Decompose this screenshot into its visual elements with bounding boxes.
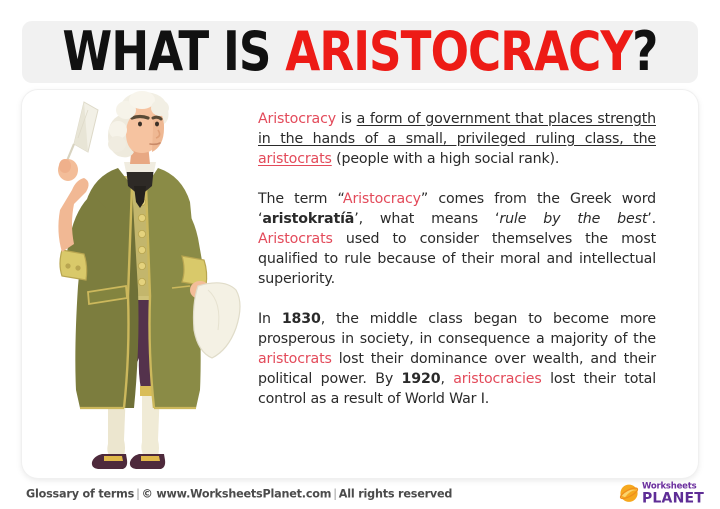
term-aristocrats: aristocrats — [258, 151, 332, 167]
aristocrat-illustration — [22, 90, 250, 478]
brand-wordmark: Worksheets PLANET — [642, 482, 704, 506]
copyright-icon: © — [142, 487, 153, 500]
quill-pen-icon — [64, 102, 98, 168]
paragraph-etymology: The term “Aristocracy” comes from the Gr… — [258, 190, 656, 289]
footer-rights-label: All rights reserved — [339, 487, 452, 500]
text-segment: In — [258, 311, 282, 327]
paper-scroll — [194, 283, 241, 358]
term-aristocrats: aristocrats — [258, 351, 332, 367]
illustration-column — [22, 90, 250, 478]
term-aristocracies: aristocracies — [453, 371, 541, 387]
translation-phrase: rule by the best — [499, 211, 647, 227]
page-title-prefix: WHAT IS — [62, 21, 285, 83]
term-aristocracy: Aristocracy — [343, 191, 421, 207]
text-segment: (people with a high social rank). — [332, 151, 560, 167]
content-panel: Aristocracy is a form of government that… — [22, 90, 698, 478]
page-title-highlight: ARISTOCRACY — [285, 21, 632, 83]
text-segment: ’, what means ‘ — [354, 211, 499, 227]
term-aristocracy: Aristocracy — [258, 111, 336, 127]
paragraph-definition: Aristocracy is a form of government that… — [258, 110, 656, 169]
shoes — [92, 454, 165, 469]
year-1830: 1830 — [282, 311, 321, 327]
page-title: WHAT IS ARISTOCRACY? — [62, 25, 657, 79]
text-segment: The term “ — [258, 191, 343, 207]
page-title-suffix: ? — [632, 21, 657, 83]
footer-separator: | — [331, 487, 339, 500]
year-1920: 1920 — [402, 371, 441, 387]
worksheets-planet-logo[interactable]: Worksheets PLANET — [619, 482, 704, 506]
footer-separator: | — [134, 487, 142, 500]
definition-text-column: Aristocracy is a form of government that… — [250, 90, 698, 478]
footer-credit-line: Glossary of terms|© www.WorksheetsPlanet… — [26, 487, 452, 500]
text-segment: , — [440, 371, 453, 387]
brand-bottom-word: PLANET — [642, 491, 704, 505]
text-segment: is — [336, 111, 357, 127]
brand-top-word: Worksheets — [642, 482, 704, 491]
greek-word: aristokratíā — [262, 211, 354, 227]
paragraph-history: In 1830, the middle class began to becom… — [258, 310, 656, 409]
term-aristocrats: Aristocrats — [258, 231, 333, 247]
text-segment: ’. — [647, 211, 656, 227]
page-footer: Glossary of terms|© www.WorksheetsPlanet… — [0, 478, 720, 509]
footer-glossary-label: Glossary of terms — [26, 487, 134, 500]
footer-website-link[interactable]: www.WorksheetsPlanet.com — [156, 487, 331, 500]
planet-swoosh-icon — [619, 484, 639, 504]
page-title-bar: WHAT IS ARISTOCRACY? — [22, 21, 698, 83]
